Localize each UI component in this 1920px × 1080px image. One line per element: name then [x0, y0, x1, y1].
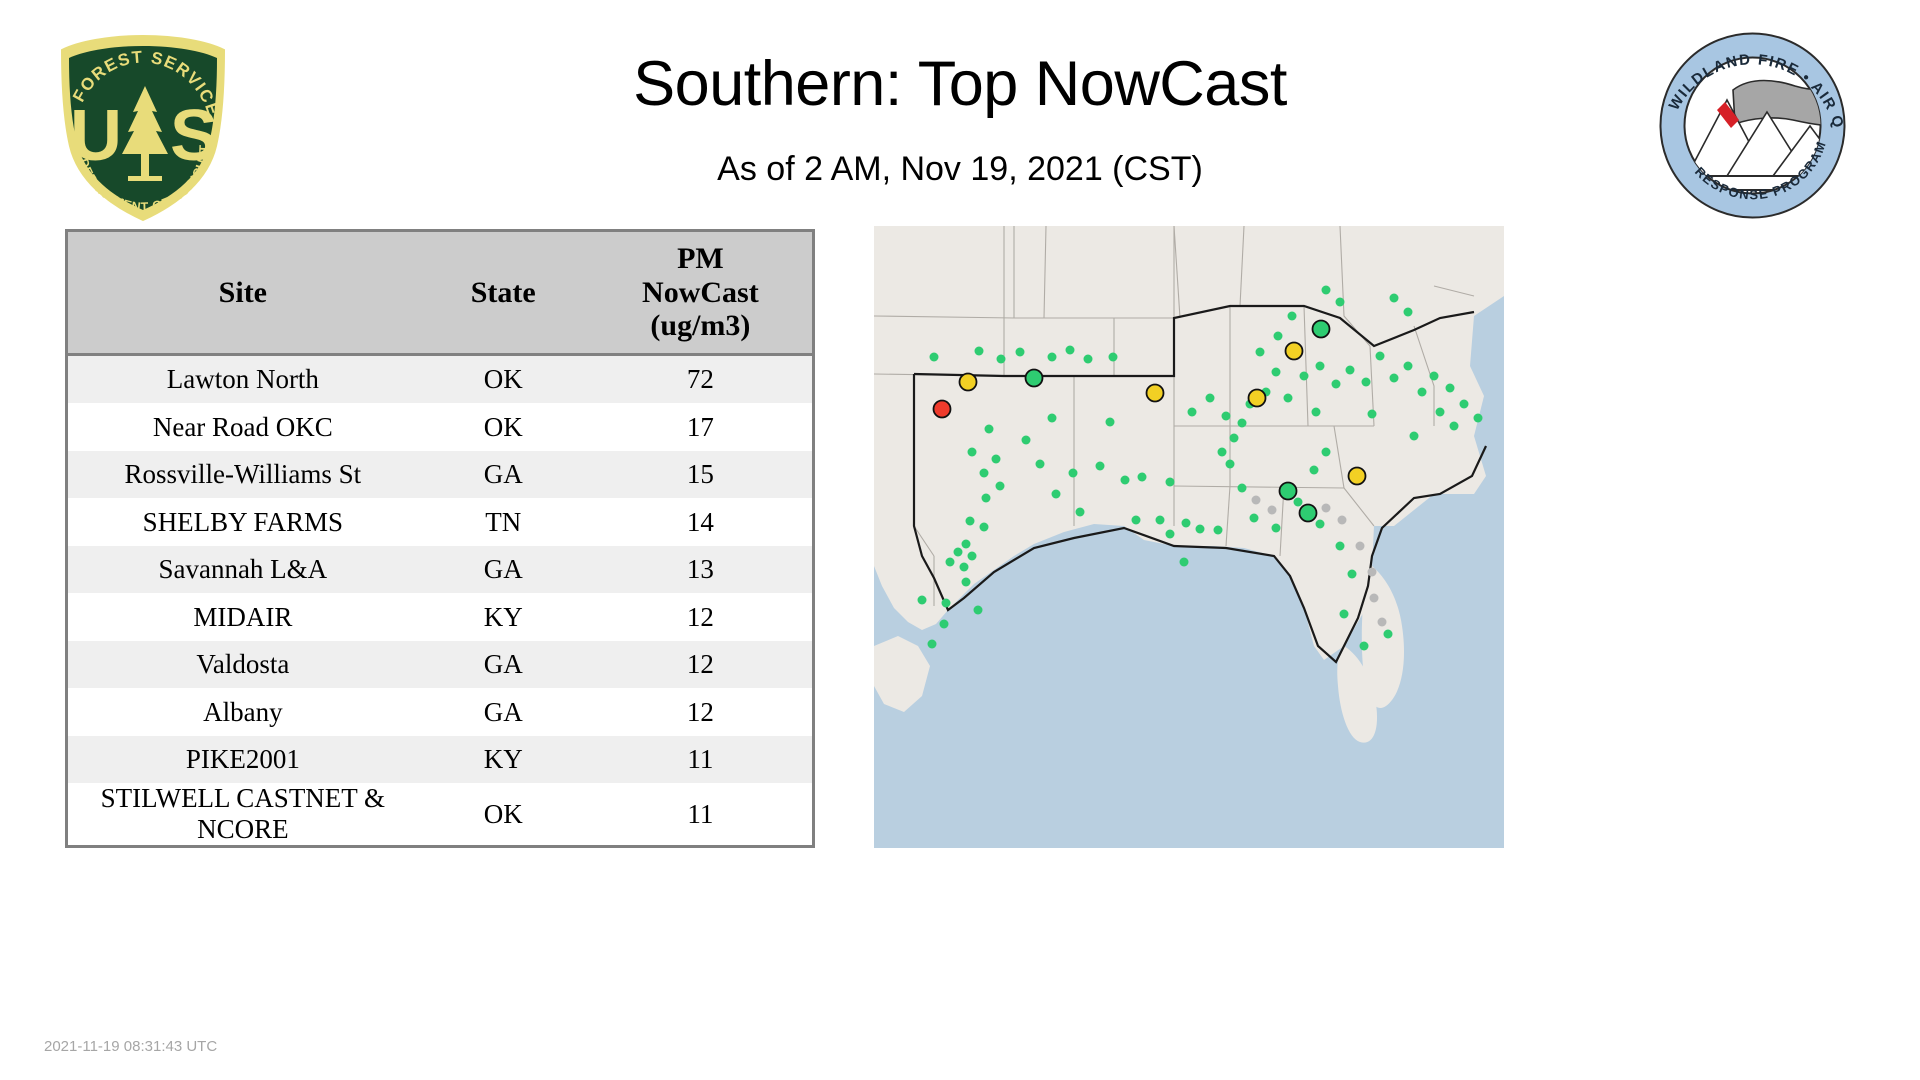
map-monitor-marker[interactable] — [1280, 483, 1297, 500]
table-cell-pm: 13 — [589, 546, 812, 594]
table-row: AlbanyGA12 — [68, 688, 812, 736]
page-header: FOREST SERVICE DEPARTMENT OF AGRICULTURE… — [0, 0, 1920, 225]
map-monitor-marker[interactable] — [934, 401, 951, 418]
generated-timestamp: 2021-11-19 08:31:43 UTC — [44, 1038, 217, 1055]
table-cell-site: MIDAIR — [68, 593, 418, 641]
table-cell-state: KY — [418, 593, 589, 641]
column-header-pm-nowcast: PM NowCast (ug/m3) — [589, 232, 812, 354]
map-canvas — [874, 226, 1504, 848]
table-cell-state: GA — [418, 546, 589, 594]
table-cell-site: STILWELL CASTNET & NCORE — [68, 783, 418, 845]
table-cell-site: SHELBY FARMS — [68, 498, 418, 546]
table-cell-state: GA — [418, 688, 589, 736]
page-title: Southern: Top NowCast — [0, 48, 1920, 120]
table-row: Lawton NorthOK72 — [68, 354, 812, 403]
top-nowcast-table-container: Site State PM NowCast (ug/m3) Lawton Nor… — [65, 229, 815, 848]
wildland-fire-air-quality-logo: WILDLAND FIRE • AIR QUALITY RESPONSE PRO… — [1655, 28, 1850, 223]
table-cell-site: Valdosta — [68, 641, 418, 689]
table-header-row: Site State PM NowCast (ug/m3) — [68, 232, 812, 354]
table-row: Savannah L&AGA13 — [68, 546, 812, 594]
table-cell-pm: 11 — [589, 783, 812, 845]
table-row: Near Road OKCOK17 — [68, 403, 812, 451]
table-header: Site State PM NowCast (ug/m3) — [68, 232, 812, 354]
table-cell-pm: 12 — [589, 688, 812, 736]
column-header-state: State — [418, 232, 589, 354]
table-row: STILWELL CASTNET & NCOREOK11 — [68, 783, 812, 845]
table-cell-pm: 14 — [589, 498, 812, 546]
table-cell-state: OK — [418, 403, 589, 451]
table-cell-state: OK — [418, 783, 589, 845]
table-row: MIDAIRKY12 — [68, 593, 812, 641]
table-cell-site: Savannah L&A — [68, 546, 418, 594]
map-monitor-marker[interactable] — [1249, 390, 1266, 407]
table-cell-pm: 11 — [589, 736, 812, 784]
column-header-site: Site — [68, 232, 418, 354]
top-nowcast-table: Site State PM NowCast (ug/m3) Lawton Nor… — [68, 232, 812, 845]
table-cell-site: Rossville-Williams St — [68, 451, 418, 499]
table-row: Rossville-Williams StGA15 — [68, 451, 812, 499]
map-monitor-marker[interactable] — [1286, 343, 1303, 360]
map-monitor-marker[interactable] — [1300, 505, 1317, 522]
table-cell-state: GA — [418, 451, 589, 499]
table-cell-pm: 17 — [589, 403, 812, 451]
southern-region-air-quality-map[interactable]: Air Quality Index HazardousVery Unhealth… — [874, 226, 1504, 848]
table-cell-pm: 15 — [589, 451, 812, 499]
map-monitor-marker[interactable] — [1026, 370, 1043, 387]
table-row: PIKE2001KY11 — [68, 736, 812, 784]
table-cell-state: KY — [418, 736, 589, 784]
map-monitor-marker[interactable] — [960, 374, 977, 391]
table-cell-pm: 12 — [589, 641, 812, 689]
map-monitor-marker[interactable] — [1349, 468, 1366, 485]
table-cell-site: Lawton North — [68, 354, 418, 403]
table-cell-state: TN — [418, 498, 589, 546]
table-body: Lawton NorthOK72Near Road OKCOK17Rossvil… — [68, 354, 812, 845]
table-cell-pm: 12 — [589, 593, 812, 641]
map-monitor-marker[interactable] — [1147, 385, 1164, 402]
table-cell-state: OK — [418, 354, 589, 403]
table-row: SHELBY FARMSTN14 — [68, 498, 812, 546]
table-row: ValdostaGA12 — [68, 641, 812, 689]
table-cell-site: Near Road OKC — [68, 403, 418, 451]
table-cell-pm: 72 — [589, 354, 812, 403]
map-monitor-marker[interactable] — [1313, 321, 1330, 338]
table-cell-site: PIKE2001 — [68, 736, 418, 784]
table-cell-site: Albany — [68, 688, 418, 736]
page-subtitle: As of 2 AM, Nov 19, 2021 (CST) — [0, 150, 1920, 189]
table-cell-state: GA — [418, 641, 589, 689]
